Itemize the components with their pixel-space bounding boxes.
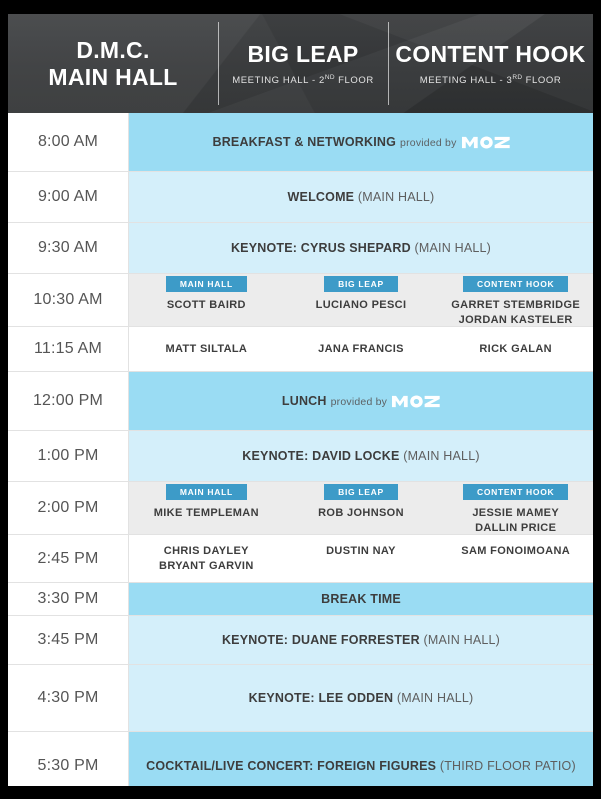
session-columns: CHRIS DAYLEYBRYANT GARVINDUSTIN NAYSAM F… bbox=[129, 544, 593, 574]
event-title: BREAKFAST & NETWORKING bbox=[212, 135, 396, 149]
speaker-names: ROB JOHNSON bbox=[318, 506, 404, 521]
row-time: 8:00 AM bbox=[8, 113, 129, 171]
schedule-row: 3:45 PMKEYNOTE: DUANE FORRESTER (MAIN HA… bbox=[8, 616, 593, 665]
row-time: 11:15 AM bbox=[8, 327, 129, 371]
session-column-3[interactable]: SAM FONOIMOANA bbox=[438, 544, 593, 559]
venue-badge: BIG LEAP bbox=[324, 484, 398, 500]
session-column-1[interactable]: MAIN HALLMIKE TEMPLEMAN bbox=[129, 484, 284, 521]
row-content: LUNCHprovided by bbox=[129, 372, 593, 430]
row-content: WELCOME (MAIN HALL) bbox=[129, 172, 593, 222]
banner-text: BREAK TIME bbox=[321, 592, 401, 606]
row-content: KEYNOTE: LEE ODDEN (MAIN HALL) bbox=[129, 665, 593, 731]
session-column-2[interactable]: DUSTIN NAY bbox=[284, 544, 439, 559]
header-column-1: D.M.C.MAIN HALL bbox=[8, 14, 218, 113]
row-time: 9:30 AM bbox=[8, 223, 129, 273]
session-column-2[interactable]: BIG LEAPLUCIANO PESCI bbox=[284, 276, 439, 313]
schedule-row: 3:30 PMBREAK TIME bbox=[8, 583, 593, 616]
session-column-3[interactable]: RICK GALAN bbox=[438, 342, 593, 357]
speaker-names: RICK GALAN bbox=[479, 342, 552, 357]
session-column-2[interactable]: BIG LEAPROB JOHNSON bbox=[284, 484, 439, 521]
schedule-header: D.M.C.MAIN HALLBIG LEAPMEETING HALL - 2N… bbox=[8, 14, 593, 113]
speaker-names: GARRET STEMBRIDGEJORDAN KASTELER bbox=[451, 298, 580, 328]
row-time: 4:30 PM bbox=[8, 665, 129, 731]
row-time: 2:00 PM bbox=[8, 482, 129, 534]
row-content: BREAKFAST & NETWORKINGprovided by bbox=[129, 113, 593, 171]
venue-badge: BIG LEAP bbox=[324, 276, 398, 292]
venue-badge: MAIN HALL bbox=[166, 484, 247, 500]
event-location: (MAIN HALL) bbox=[415, 241, 492, 255]
event-title: KEYNOTE: DAVID LOCKE bbox=[242, 449, 399, 463]
moz-logo bbox=[462, 133, 510, 152]
session-columns: MATT SILTALAJANA FRANCISRICK GALAN bbox=[129, 342, 593, 357]
session-column-2[interactable]: JANA FRANCIS bbox=[284, 342, 439, 357]
speaker-names: DUSTIN NAY bbox=[326, 544, 396, 559]
provided-by-label: provided by bbox=[327, 396, 390, 408]
row-time: 3:30 PM bbox=[8, 583, 129, 615]
session-column-3[interactable]: CONTENT HOOKGARRET STEMBRIDGEJORDAN KAST… bbox=[438, 276, 593, 328]
header-columns: D.M.C.MAIN HALLBIG LEAPMEETING HALL - 2N… bbox=[8, 14, 593, 113]
event-title: LUNCH bbox=[282, 394, 327, 408]
ordinal-suffix: ND bbox=[325, 74, 335, 81]
header-subtitle-2: MEETING HALL - 2ND FLOOR bbox=[232, 74, 374, 86]
page-background: D.M.C.MAIN HALLBIG LEAPMEETING HALL - 2N… bbox=[0, 0, 601, 799]
row-time: 12:00 PM bbox=[8, 372, 129, 430]
row-time: 10:30 AM bbox=[8, 274, 129, 326]
banner-text: KEYNOTE: DAVID LOCKE (MAIN HALL) bbox=[242, 449, 479, 463]
ordinal-suffix: RD bbox=[512, 74, 522, 81]
row-content: BREAK TIME bbox=[129, 583, 593, 615]
row-content: KEYNOTE: DUANE FORRESTER (MAIN HALL) bbox=[129, 616, 593, 664]
event-location: (MAIN HALL) bbox=[397, 691, 474, 705]
banner-text: COCKTAIL/LIVE CONCERT: FOREIGN FIGURES (… bbox=[146, 759, 576, 773]
speaker-names: MATT SILTALA bbox=[165, 342, 247, 357]
row-content: CHRIS DAYLEYBRYANT GARVINDUSTIN NAYSAM F… bbox=[129, 535, 593, 582]
session-column-1[interactable]: MAIN HALLSCOTT BAIRD bbox=[129, 276, 284, 313]
header-column-3: CONTENT HOOKMEETING HALL - 3RD FLOOR bbox=[388, 14, 593, 113]
banner-text: BREAKFAST & NETWORKINGprovided by bbox=[212, 133, 509, 152]
row-time: 5:30 PM bbox=[8, 732, 129, 786]
header-title-3: CONTENT HOOK bbox=[395, 41, 585, 67]
session-columns: MAIN HALLSCOTT BAIRDBIG LEAPLUCIANO PESC… bbox=[129, 274, 593, 328]
row-time: 9:00 AM bbox=[8, 172, 129, 222]
schedule-row: 9:30 AMKEYNOTE: CYRUS SHEPARD (MAIN HALL… bbox=[8, 223, 593, 274]
schedule-row: 12:00 PMLUNCHprovided by bbox=[8, 372, 593, 431]
conference-schedule-table: D.M.C.MAIN HALLBIG LEAPMEETING HALL - 2N… bbox=[8, 14, 593, 786]
venue-badge: MAIN HALL bbox=[166, 276, 247, 292]
row-content: COCKTAIL/LIVE CONCERT: FOREIGN FIGURES (… bbox=[129, 732, 593, 786]
banner-text: LUNCHprovided by bbox=[282, 392, 440, 411]
row-time: 3:45 PM bbox=[8, 616, 129, 664]
session-column-1[interactable]: CHRIS DAYLEYBRYANT GARVIN bbox=[129, 544, 284, 574]
row-content: MAIN HALLSCOTT BAIRDBIG LEAPLUCIANO PESC… bbox=[129, 274, 593, 326]
schedule-row: 11:15 AMMATT SILTALAJANA FRANCISRICK GAL… bbox=[8, 327, 593, 372]
schedule-row: 2:00 PMMAIN HALLMIKE TEMPLEMANBIG LEAPRO… bbox=[8, 482, 593, 535]
row-content: KEYNOTE: DAVID LOCKE (MAIN HALL) bbox=[129, 431, 593, 481]
schedule-rows: 8:00 AMBREAKFAST & NETWORKINGprovided by… bbox=[8, 113, 593, 786]
event-title: KEYNOTE: LEE ODDEN bbox=[249, 691, 394, 705]
schedule-row: 1:00 PMKEYNOTE: DAVID LOCKE (MAIN HALL) bbox=[8, 431, 593, 482]
banner-text: WELCOME (MAIN HALL) bbox=[288, 190, 435, 204]
header-column-2: BIG LEAPMEETING HALL - 2ND FLOOR bbox=[218, 14, 388, 113]
speaker-names: SAM FONOIMOANA bbox=[461, 544, 570, 559]
venue-badge: CONTENT HOOK bbox=[463, 276, 568, 292]
session-column-3[interactable]: CONTENT HOOKJESSIE MAMEYDALLIN PRICE bbox=[438, 484, 593, 536]
event-location: (MAIN HALL) bbox=[424, 633, 501, 647]
moz-logo bbox=[392, 392, 440, 411]
schedule-row: 5:30 PMCOCKTAIL/LIVE CONCERT: FOREIGN FI… bbox=[8, 732, 593, 786]
event-title: WELCOME bbox=[288, 190, 355, 204]
speaker-names: CHRIS DAYLEYBRYANT GARVIN bbox=[159, 544, 254, 574]
event-location: (MAIN HALL) bbox=[403, 449, 480, 463]
venue-badge: CONTENT HOOK bbox=[463, 484, 568, 500]
session-column-1[interactable]: MATT SILTALA bbox=[129, 342, 284, 357]
header-subtitle-3: MEETING HALL - 3RD FLOOR bbox=[420, 74, 562, 86]
schedule-row: 9:00 AMWELCOME (MAIN HALL) bbox=[8, 172, 593, 223]
schedule-row: 2:45 PMCHRIS DAYLEYBRYANT GARVINDUSTIN N… bbox=[8, 535, 593, 583]
row-content: MAIN HALLMIKE TEMPLEMANBIG LEAPROB JOHNS… bbox=[129, 482, 593, 534]
event-title: COCKTAIL/LIVE CONCERT: FOREIGN FIGURES bbox=[146, 759, 436, 773]
event-location: (THIRD FLOOR PATIO) bbox=[440, 759, 576, 773]
banner-text: KEYNOTE: LEE ODDEN (MAIN HALL) bbox=[249, 691, 474, 705]
session-columns: MAIN HALLMIKE TEMPLEMANBIG LEAPROB JOHNS… bbox=[129, 482, 593, 536]
schedule-row: 10:30 AMMAIN HALLSCOTT BAIRDBIG LEAPLUCI… bbox=[8, 274, 593, 327]
row-time: 1:00 PM bbox=[8, 431, 129, 481]
event-title: KEYNOTE: DUANE FORRESTER bbox=[222, 633, 420, 647]
event-title: BREAK TIME bbox=[321, 592, 401, 606]
speaker-names: SCOTT BAIRD bbox=[167, 298, 246, 313]
schedule-row: 8:00 AMBREAKFAST & NETWORKINGprovided by bbox=[8, 113, 593, 172]
speaker-names: LUCIANO PESCI bbox=[316, 298, 407, 313]
provided-by-label: provided by bbox=[396, 137, 459, 149]
banner-text: KEYNOTE: DUANE FORRESTER (MAIN HALL) bbox=[222, 633, 500, 647]
banner-text: KEYNOTE: CYRUS SHEPARD (MAIN HALL) bbox=[231, 241, 491, 255]
event-title: KEYNOTE: CYRUS SHEPARD bbox=[231, 241, 411, 255]
row-time: 2:45 PM bbox=[8, 535, 129, 582]
event-location: (MAIN HALL) bbox=[358, 190, 435, 204]
speaker-names: JANA FRANCIS bbox=[318, 342, 404, 357]
header-title-1: D.M.C.MAIN HALL bbox=[48, 37, 177, 90]
row-content: MATT SILTALAJANA FRANCISRICK GALAN bbox=[129, 327, 593, 371]
speaker-names: JESSIE MAMEYDALLIN PRICE bbox=[472, 506, 559, 536]
schedule-row: 4:30 PMKEYNOTE: LEE ODDEN (MAIN HALL) bbox=[8, 665, 593, 732]
speaker-names: MIKE TEMPLEMAN bbox=[154, 506, 259, 521]
row-content: KEYNOTE: CYRUS SHEPARD (MAIN HALL) bbox=[129, 223, 593, 273]
header-title-2: BIG LEAP bbox=[247, 41, 358, 67]
